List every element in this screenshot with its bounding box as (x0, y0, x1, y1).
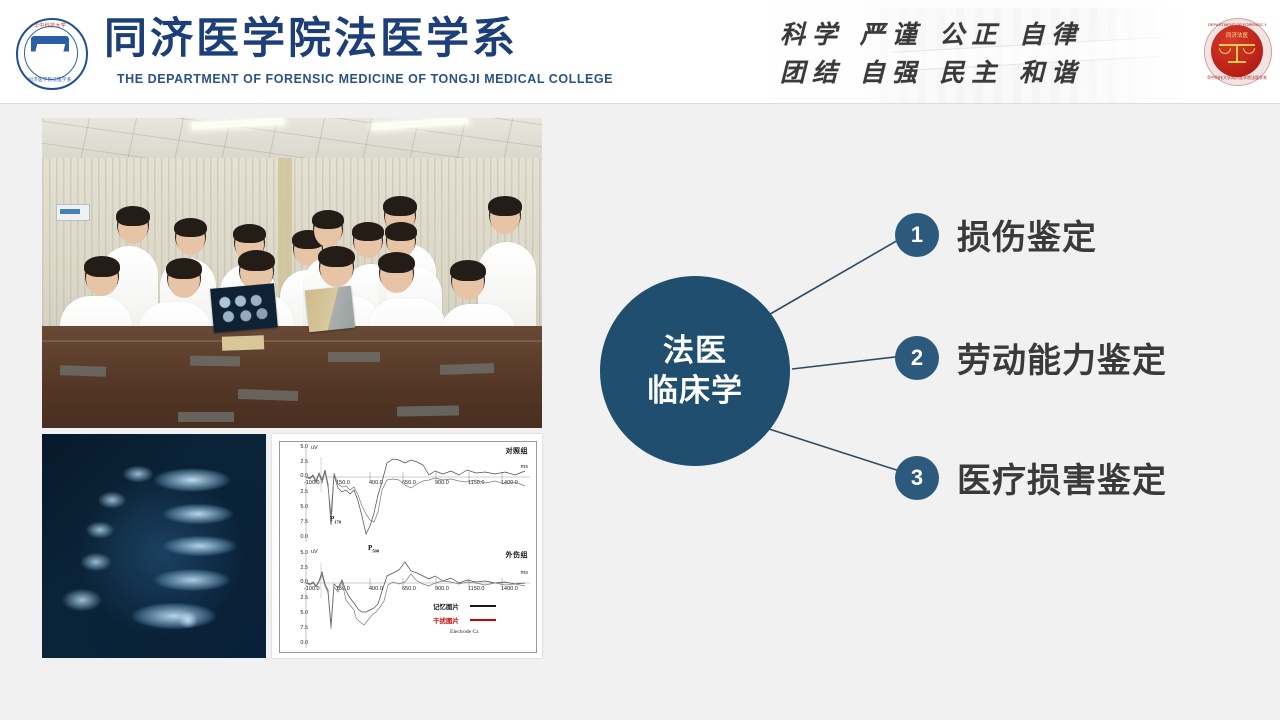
erp-electrode-note: Electrode Cz (450, 629, 479, 635)
photo-person-head (490, 200, 520, 234)
forensic-emblem-icon: DEPARTMENT OF FORENSIC MEDICINE 同济法医 华中科… (1204, 18, 1270, 84)
department-group-photo (42, 118, 542, 428)
emblem-center-text: 同济法医 (1216, 31, 1258, 39)
photo-table-panel (178, 412, 234, 422)
photo-person-head (380, 256, 413, 293)
erp-waveform-bottom (280, 546, 536, 652)
slide: 华中科技大学 同济医学院法医学系 同济医学院法医学系 THE DEPARTMEN… (0, 0, 1280, 720)
branch-badge-2: 2 (895, 336, 939, 380)
connector-line-2 (792, 355, 912, 369)
photo-ct-film (210, 283, 278, 332)
photo-table-panel (328, 352, 380, 362)
branch-label-1: 损伤鉴定 (957, 210, 1097, 259)
photo-person-head (118, 210, 148, 244)
photo-person-head (354, 226, 382, 258)
hub-label-line-1: 法医 (663, 331, 727, 371)
scale-pan-left (1219, 48, 1231, 54)
branch-badge-3: 3 (895, 456, 939, 500)
scales-of-justice-icon (1219, 40, 1255, 64)
foot-xray-image (42, 434, 266, 658)
scale-base (1228, 61, 1246, 63)
hub-label-line-2: 临床学 (647, 371, 743, 411)
photo-conference-table (42, 326, 542, 428)
photo-person-head (86, 260, 118, 296)
photo-table-panel (190, 356, 240, 367)
connector-line-3 (766, 428, 912, 475)
photo-paper-stack (222, 335, 264, 350)
org-subtitle: THE DEPARTMENT OF FORENSIC MEDICINE OF T… (117, 72, 613, 86)
erp-chart-card: 对照组 uV ms 5.0 2.5 0.0 2.5 5.0 7.5 0.0 -1… (272, 434, 542, 658)
erp-chart-frame: 对照组 uV ms 5.0 2.5 0.0 2.5 5.0 7.5 0.0 -1… (279, 441, 537, 653)
photo-wall-sign (56, 204, 90, 221)
photo-table-panel (440, 363, 494, 375)
diagram-branch-2[interactable]: 2 劳动能力鉴定 (895, 333, 1167, 382)
photo-table-panel (238, 389, 298, 401)
scale-pan-right (1243, 48, 1255, 54)
diagram-branch-1[interactable]: 1 损伤鉴定 (895, 210, 1097, 259)
photo-person-head (314, 214, 342, 247)
erp-legend-swatch-memory (470, 605, 496, 607)
seal-core-mark (31, 36, 69, 66)
photo-person-head (320, 250, 353, 287)
erp-waveform-top (280, 442, 536, 546)
erp-legend-swatch-distractor (470, 619, 496, 621)
erp-legend-label-memory: 记忆图片 (433, 601, 459, 611)
diagram-branch-3[interactable]: 3 医疗损害鉴定 (895, 453, 1167, 502)
erp-legend-label-distractor: 干扰图片 (433, 615, 459, 625)
photo-table-panel (397, 405, 459, 416)
branch-label-3: 医疗损害鉴定 (957, 453, 1167, 502)
photo-person-head (452, 264, 484, 300)
motto-line-2: 团结 自强 民主 和谐 (780, 54, 1110, 92)
scale-post (1236, 44, 1238, 62)
photo-person-head (176, 222, 205, 255)
forensic-clinical-diagram: 法医 临床学 1 损伤鉴定 2 劳动能力鉴定 3 医疗损害鉴定 (580, 150, 1280, 570)
erp-panel-trauma: 外伤组 uV ms P500 5.0 2.5 0.0 2.5 5.0 7.5 0… (280, 546, 536, 652)
seal-bottom-text: 同济医学院法医学系 (22, 77, 78, 83)
connector-line-1 (765, 232, 912, 317)
xray-bones (42, 434, 266, 658)
branch-label-2: 劳动能力鉴定 (957, 333, 1167, 382)
motto-line-1: 科学 严谨 公正 自律 (780, 16, 1110, 54)
slide-header: 华中科技大学 同济医学院法医学系 同济医学院法医学系 THE DEPARTMEN… (0, 0, 1280, 104)
hust-seal-icon: 华中科技大学 同济医学院法医学系 (14, 16, 90, 92)
photo-table-panel (60, 365, 106, 377)
emblem-bottom-text: 华中科技大学同济医学院法医学系 (1206, 75, 1268, 81)
seal-top-text: 华中科技大学 (26, 22, 74, 29)
diagram-hub[interactable]: 法医 临床学 (600, 276, 790, 466)
motto-calligraphy: 科学 严谨 公正 自律 团结 自强 民主 和谐 (780, 16, 1110, 92)
photo-document-folder (305, 286, 355, 333)
erp-panel-control: 对照组 uV ms 5.0 2.5 0.0 2.5 5.0 7.5 0.0 -1… (280, 442, 536, 546)
photo-person-head (168, 262, 200, 298)
header-divider (0, 103, 1280, 104)
org-title: 同济医学院法医学系 (104, 18, 518, 61)
branch-badge-1: 1 (895, 213, 939, 257)
